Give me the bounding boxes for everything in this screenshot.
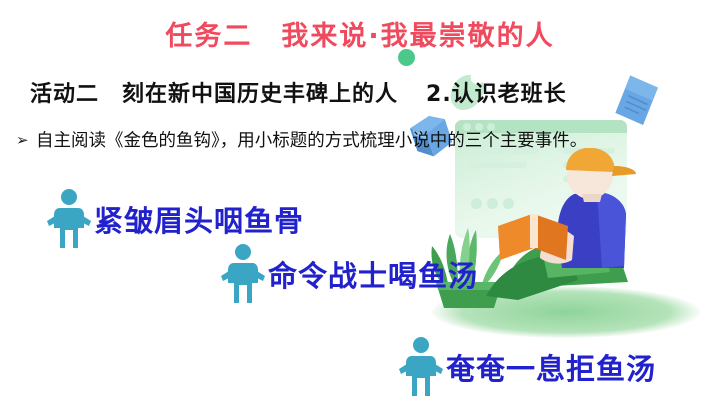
person-icon (398, 336, 444, 398)
instruction-line: ➢ 自主阅读《金色的鱼钩》，用小标题的方式梳理小说中的三个主要事件。 (16, 127, 716, 152)
slide-canvas: 任务二 我来说·我最崇敬的人 活动二 刻在新中国历史丰碑上的人 2.认识老班长 … (0, 0, 720, 405)
page-title: 任务二 我来说·我最崇敬的人 (0, 14, 720, 53)
reading-person-illustration (478, 148, 688, 308)
event-item-3[interactable]: 奄奄一息拒鱼汤 (398, 336, 656, 398)
event-item-2[interactable]: 命令战士喝鱼汤 (220, 243, 478, 305)
arrow-bullet-icon: ➢ (16, 131, 36, 149)
event-label: 命令战士喝鱼汤 (268, 253, 478, 295)
subtitle-activity: 活动二 刻在新中国历史丰碑上的人 (30, 76, 398, 108)
event-item-1[interactable]: 紧皱眉头咽鱼骨 (46, 188, 304, 250)
person-icon (220, 243, 266, 305)
event-label: 紧皱眉头咽鱼骨 (94, 198, 304, 240)
subtitle-row: 活动二 刻在新中国历史丰碑上的人 2.认识老班长 (30, 76, 710, 108)
person-icon (46, 188, 92, 250)
event-label: 奄奄一息拒鱼汤 (446, 346, 656, 388)
instruction-text: 自主阅读《金色的鱼钩》，用小标题的方式梳理小说中的三个主要事件。 (36, 127, 587, 152)
subtitle-section: 2.认识老班长 (426, 76, 567, 108)
